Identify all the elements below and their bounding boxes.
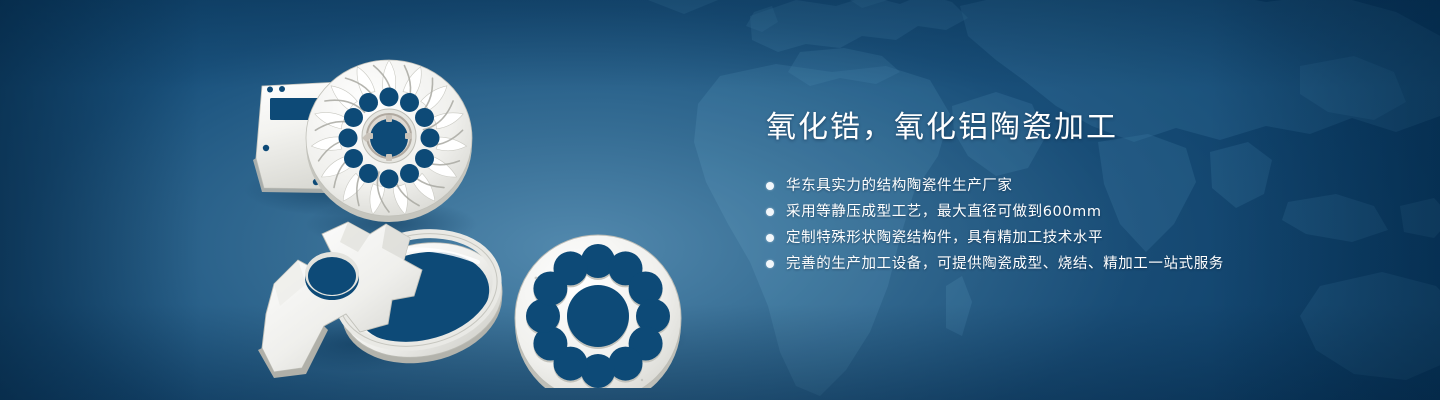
feature-text: 定制特殊形状陶瓷结构件，具有精加工技术水平 (786, 226, 1103, 250)
feature-text: 采用等静压成型工艺，最大直径可做到600mm (786, 200, 1102, 224)
feature-list: 华东具实力的结构陶瓷件生产厂家 采用等静压成型工艺，最大直径可做到600mm 定… (766, 174, 1386, 276)
list-item: 定制特殊形状陶瓷结构件，具有精加工技术水平 (766, 226, 1386, 250)
list-item: 完善的生产加工设备，可提供陶瓷成型、烧结、精加工一站式服务 (766, 252, 1386, 276)
banner-copy: 氧化锆，氧化铝陶瓷加工 华东具实力的结构陶瓷件生产厂家 采用等静压成型工艺，最大… (766, 108, 1386, 278)
bullet-dot-icon (766, 182, 774, 190)
feature-text: 完善的生产加工设备，可提供陶瓷成型、烧结、精加工一站式服务 (786, 252, 1224, 276)
ceramic-impeller-shape (306, 60, 472, 222)
bullet-dot-icon (766, 208, 774, 216)
feature-text: 华东具实力的结构陶瓷件生产厂家 (786, 174, 1013, 198)
ceramic-perforated-disc-shape (515, 235, 681, 388)
list-item: 采用等静压成型工艺，最大直径可做到600mm (766, 200, 1386, 224)
hero-banner: 氧化锆，氧化铝陶瓷加工 华东具实力的结构陶瓷件生产厂家 采用等静压成型工艺，最大… (0, 0, 1440, 400)
bullet-dot-icon (766, 234, 774, 242)
product-photo-cluster (236, 38, 716, 388)
page-title: 氧化锆，氧化铝陶瓷加工 (766, 108, 1386, 148)
bullet-dot-icon (766, 260, 774, 268)
list-item: 华东具实力的结构陶瓷件生产厂家 (766, 174, 1386, 198)
